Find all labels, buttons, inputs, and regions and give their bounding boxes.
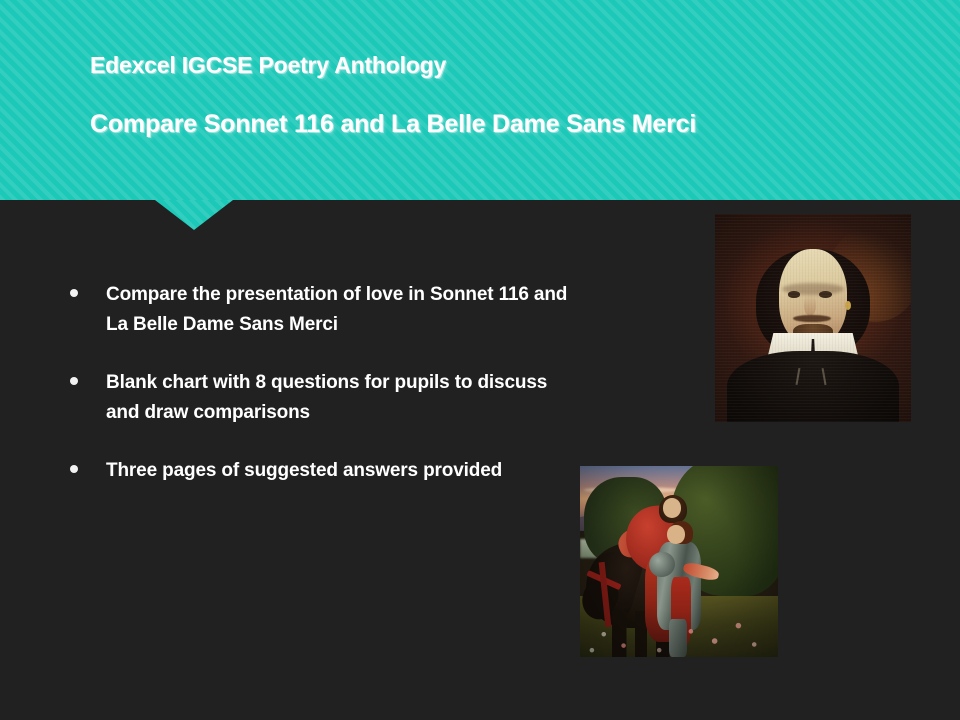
bullet-dot-icon bbox=[70, 377, 78, 385]
bullet-dot-icon bbox=[70, 465, 78, 473]
portrait-nose bbox=[804, 295, 816, 316]
slide-canvas: Edexcel IGCSE Poetry Anthology Compare S… bbox=[0, 0, 960, 720]
list-item: Three pages of suggested answers provide… bbox=[70, 456, 570, 486]
painting-wildflowers bbox=[580, 600, 778, 657]
bullet-text: Three pages of suggested answers provide… bbox=[106, 456, 502, 486]
portrait-eye-left bbox=[788, 291, 801, 298]
bullet-list: Compare the presentation of love in Sonn… bbox=[70, 280, 570, 514]
bullet-text: Compare the presentation of love in Sonn… bbox=[106, 280, 570, 340]
shakespeare-portrait-image bbox=[715, 214, 911, 422]
page-title-line-1: Edexcel IGCSE Poetry Anthology bbox=[90, 50, 910, 80]
painting-lady-head bbox=[663, 498, 681, 517]
bullet-text: Blank chart with 8 questions for pupils … bbox=[106, 368, 570, 428]
painting-knight-head bbox=[667, 525, 685, 544]
page-title-line-2: Compare Sonnet 116 and La Belle Dame San… bbox=[90, 108, 910, 140]
list-item: Blank chart with 8 questions for pupils … bbox=[70, 368, 570, 428]
bullet-dot-icon bbox=[70, 289, 78, 297]
portrait-black-doublet bbox=[727, 351, 899, 422]
header-pointer-triangle bbox=[155, 200, 233, 230]
list-item: Compare the presentation of love in Sonn… bbox=[70, 280, 570, 340]
portrait-earring bbox=[845, 301, 851, 309]
la-belle-dame-painting-image bbox=[580, 466, 778, 657]
title-block: Edexcel IGCSE Poetry Anthology Compare S… bbox=[90, 50, 910, 140]
portrait-eye-right bbox=[819, 291, 832, 298]
